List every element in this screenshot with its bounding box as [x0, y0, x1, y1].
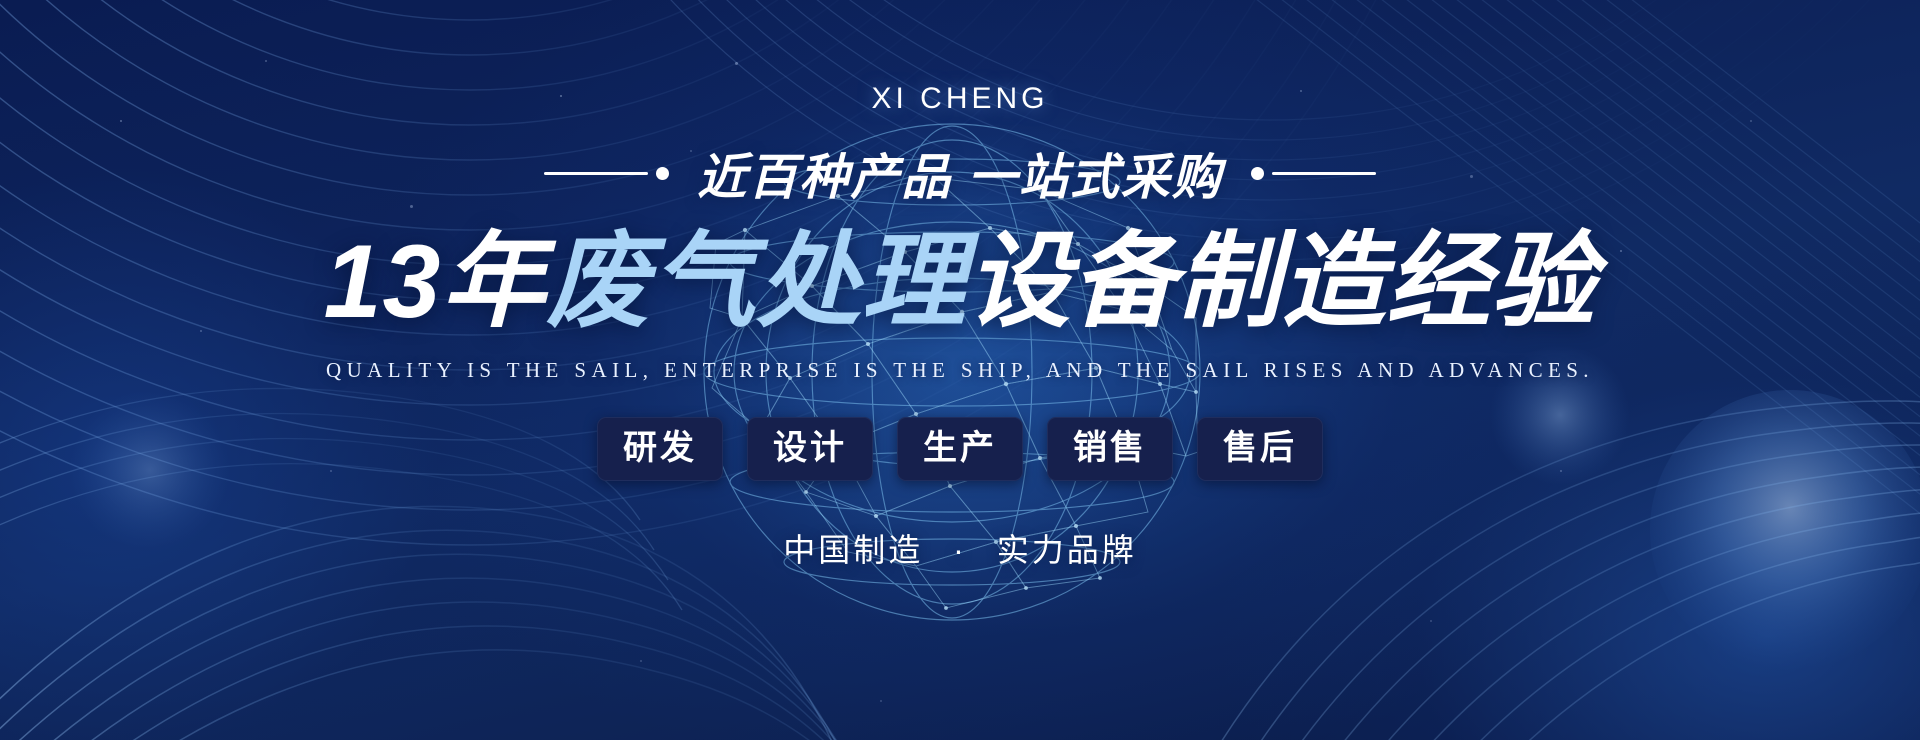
brand-name-english: XI CHENG: [871, 82, 1048, 116]
subtitle-row: 近百种产品 一站式采购: [544, 138, 1376, 209]
banner-footer-line: 中国制造 · 实力品牌: [783, 525, 1136, 571]
banner-tagline-english: QUALITY IS THE SAIL, ENTERPRISE IS THE S…: [326, 358, 1594, 383]
capability-pill-rd[interactable]: 研发: [597, 417, 723, 481]
banner-headline: 13年废气处理设备制造经验: [324, 221, 1597, 344]
banner-content: XI CHENG 近百种产品 一站式采购 13年废气处理设备制造经验 QUALI…: [0, 0, 1920, 740]
headline-prefix: 13年: [324, 224, 547, 340]
footer-separator-dot: ·: [953, 532, 967, 568]
hero-banner: XI CHENG 近百种产品 一站式采购 13年废气处理设备制造经验 QUALI…: [0, 0, 1920, 740]
decorative-bar-left: [544, 172, 648, 175]
capability-pill-list: 研发 设计 生产 销售 售后: [597, 417, 1323, 481]
footer-text-left: 中国制造: [783, 532, 923, 568]
headline-highlight: 废气处理: [546, 224, 966, 340]
footer-text-right: 实力品牌: [997, 532, 1137, 568]
decorative-line-right: [1251, 167, 1376, 180]
decorative-dot-left: [656, 167, 669, 180]
banner-subtitle: 近百种产品 一站式采购: [697, 138, 1223, 209]
capability-pill-sales[interactable]: 销售: [1047, 417, 1173, 481]
capability-pill-design[interactable]: 设计: [747, 417, 873, 481]
capability-pill-production[interactable]: 生产: [897, 417, 1023, 481]
decorative-bar-right: [1272, 172, 1376, 175]
decorative-dot-right: [1251, 167, 1264, 180]
decorative-line-left: [544, 167, 669, 180]
capability-pill-aftersales[interactable]: 售后: [1197, 417, 1323, 481]
headline-suffix: 设备制造经验: [966, 224, 1596, 340]
